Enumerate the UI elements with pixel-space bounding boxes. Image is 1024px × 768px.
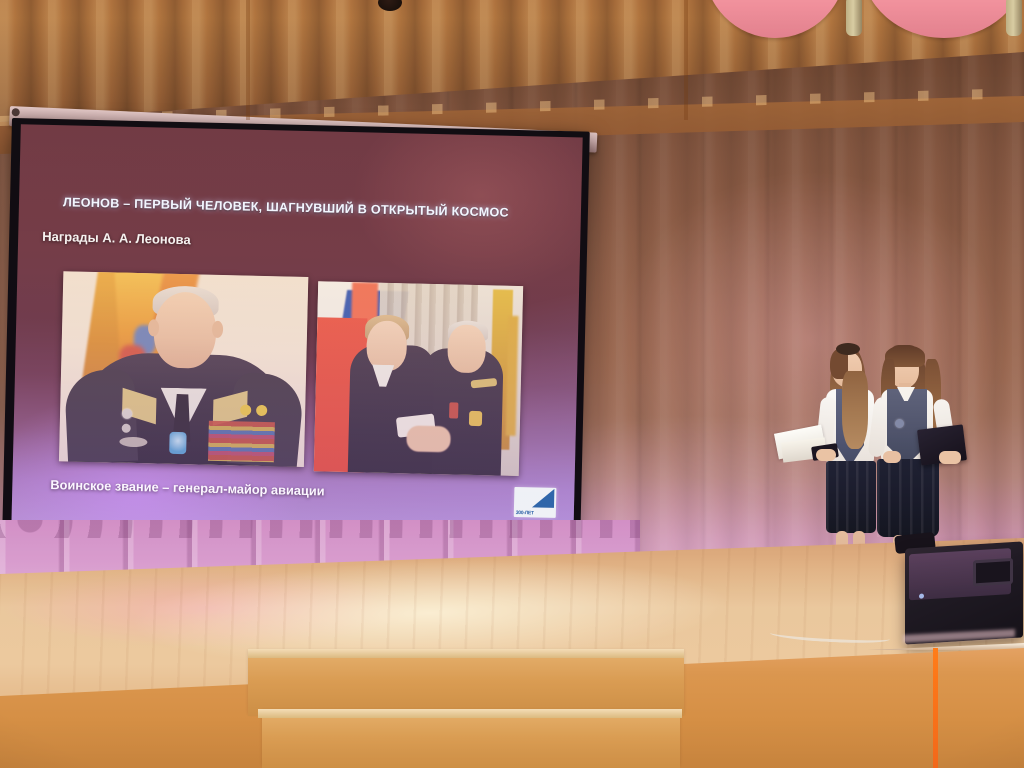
presenter-left-skirt-pleats: [826, 461, 876, 533]
presenter-right-skirt-pleats: [877, 459, 939, 537]
presentation-slide: ЛЕОНОВ – ПЕРВЫЙ ЧЕЛОВЕК, ШАГНУВШИЙ В ОТК…: [11, 124, 582, 540]
projection-screen: ЛЕОНОВ – ПЕРВЫЙ ЧЕЛОВЕК, ШАГНУВШИЙ В ОТК…: [2, 118, 590, 550]
slide-photo-award-ceremony: [314, 281, 523, 476]
stage-step-upper-tread: [248, 649, 684, 658]
presenter-left-hair-clip: [836, 343, 860, 355]
presenter-right-hand-far: [883, 451, 901, 463]
presenter-left-hands: [816, 449, 836, 461]
stage-step-upper: [248, 652, 684, 716]
presenter-left-hair-long: [842, 371, 868, 449]
slide-corner-logo: 300-ЛЕТ: [514, 487, 557, 518]
slide-photo-portrait-leonov: [59, 271, 308, 467]
apron-seam-left: [246, 0, 250, 120]
lower-curtain-hem: [0, 520, 640, 538]
slide-subtitle: Награды А. А. Леонова: [42, 229, 191, 247]
monitor-speaker-handle: [973, 558, 1013, 586]
auditorium-stage-photo: ЛЕОНОВ – ПЕРВЫЙ ЧЕЛОВЕК, ШАГНУВШИЙ В ОТК…: [0, 0, 1024, 768]
ceremony-projection-tint: [314, 281, 523, 476]
swag-knot-right: [1006, 0, 1022, 36]
apron-seam-right: [684, 0, 688, 120]
portrait-projection-tint: [59, 271, 308, 467]
roller-end-cap: [12, 108, 20, 116]
presenter-right-hand-near: [939, 451, 961, 464]
stage-light-wash-right: [560, 140, 1024, 560]
swag-knot-left: [846, 0, 862, 36]
stage-step-lower-tread: [258, 709, 682, 718]
apron-orange-seam: [933, 648, 938, 768]
presenter-right-school-badge: [895, 419, 904, 428]
stage-step-lower: [262, 712, 680, 768]
logo-text: 300-ЛЕТ: [516, 511, 534, 517]
logo-triangle-icon: [532, 488, 554, 508]
